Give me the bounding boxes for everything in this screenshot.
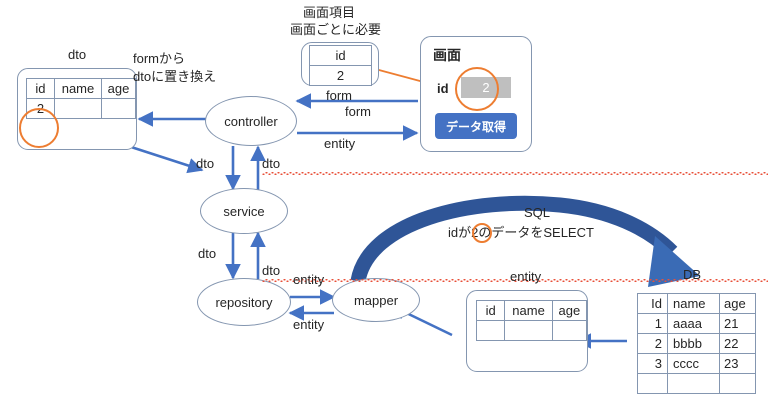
- entity-table-caption: entity: [510, 270, 541, 285]
- node-controller-label: controller: [224, 114, 277, 129]
- screen-item-note-line2: 画面ごとに必要: [290, 23, 381, 38]
- entity-header-age: age: [552, 301, 586, 321]
- db-row4-name: [668, 374, 720, 394]
- table-row: 2: [310, 66, 372, 86]
- edge-label-entity-controller: entity: [324, 137, 355, 152]
- edge-label-dto-service-to-controller: dto: [262, 157, 768, 172]
- entity-table: id name age: [476, 300, 587, 341]
- form-to-dto-note-line1: formから: [133, 52, 185, 67]
- db-row1-age: 21: [720, 314, 756, 334]
- node-mapper-label: mapper: [354, 293, 398, 308]
- edge-label-dto-service-to-repository: dto: [198, 247, 216, 262]
- dto-cell-age: [102, 99, 136, 119]
- entity-cell-id: [477, 321, 505, 341]
- sql-id-highlight-ring: [472, 223, 492, 243]
- form-to-dto-note-line2: dtoに置き換え: [133, 70, 216, 85]
- screen-id-highlight-ring: [455, 67, 499, 111]
- table-header-row: id: [310, 46, 372, 66]
- edge-label-entity-repository-to-mapper: entity: [293, 273, 324, 288]
- form-table-container: id 2: [301, 42, 379, 86]
- db-row2-age: 22: [720, 334, 756, 354]
- db-caption: DB: [683, 268, 701, 283]
- form-table-caption: form: [326, 89, 352, 104]
- table-header-row: Id name age: [638, 294, 756, 314]
- db-header-id: Id: [638, 294, 668, 314]
- fetch-data-button[interactable]: データ取得: [435, 113, 517, 139]
- db-row2-name: bbbb: [668, 334, 720, 354]
- sql-note-line1: SQL: [524, 206, 550, 221]
- edge-label-dto-to-service: dto: [196, 157, 214, 172]
- node-service-label: service: [223, 204, 264, 219]
- table-row: 1 aaaa 21: [638, 314, 756, 334]
- table-header-row: id name age: [477, 301, 587, 321]
- db-row2-id: 2: [638, 334, 668, 354]
- table-header-row: id name age: [27, 79, 136, 99]
- db-header-name: name: [668, 294, 720, 314]
- form-header-id: id: [310, 46, 372, 66]
- entity-cell-age: [552, 321, 586, 341]
- screen-item-note-line1: 画面項目: [303, 6, 355, 21]
- db-row4-id: [638, 374, 668, 394]
- dto-header-age: age: [102, 79, 136, 99]
- dto-cell-name: [54, 99, 101, 119]
- screen-id-label: id: [437, 81, 449, 96]
- table-row: [638, 374, 756, 394]
- entity-cell-name: [505, 321, 552, 341]
- dto-id-highlight-ring: [19, 108, 59, 148]
- db-row1-name: aaaa: [668, 314, 720, 334]
- node-repository-label: repository: [215, 295, 272, 310]
- diagram-canvas: dto id name age 2 formから dtoに置き換え 画面項目 画…: [0, 0, 768, 414]
- sql-note-line2: idが2のデータをSELECT: [448, 226, 594, 241]
- edge-label-form: form: [345, 105, 371, 120]
- db-header-age: age: [720, 294, 756, 314]
- table-row: 2 bbbb 22: [638, 334, 756, 354]
- entity-table-container: id name age: [466, 290, 588, 372]
- node-controller[interactable]: controller: [205, 96, 297, 146]
- dto-table-caption: dto: [68, 48, 86, 63]
- dto-header-id: id: [27, 79, 55, 99]
- db-row3-name: cccc: [668, 354, 720, 374]
- db-row1-id: 1: [638, 314, 668, 334]
- edge-label-entity-mapper-to-repository: entity: [293, 318, 324, 333]
- form-cell-id: 2: [310, 66, 372, 86]
- entity-header-name: name: [505, 301, 552, 321]
- node-mapper[interactable]: mapper: [332, 278, 420, 322]
- db-row3-age: 23: [720, 354, 756, 374]
- db-row4-age: [720, 374, 756, 394]
- db-table: Id name age 1 aaaa 21 2 bbbb 22 3 cccc 2…: [637, 293, 756, 394]
- table-row: 3 cccc 23: [638, 354, 756, 374]
- arrow-dto-to-service: [128, 146, 202, 170]
- form-table: id 2: [309, 45, 372, 86]
- screen-window-title: 画面: [433, 45, 461, 65]
- entity-header-id: id: [477, 301, 505, 321]
- db-row3-id: 3: [638, 354, 668, 374]
- table-row: [477, 321, 587, 341]
- dto-header-name: name: [54, 79, 101, 99]
- node-repository[interactable]: repository: [197, 278, 291, 326]
- node-service[interactable]: service: [200, 188, 288, 234]
